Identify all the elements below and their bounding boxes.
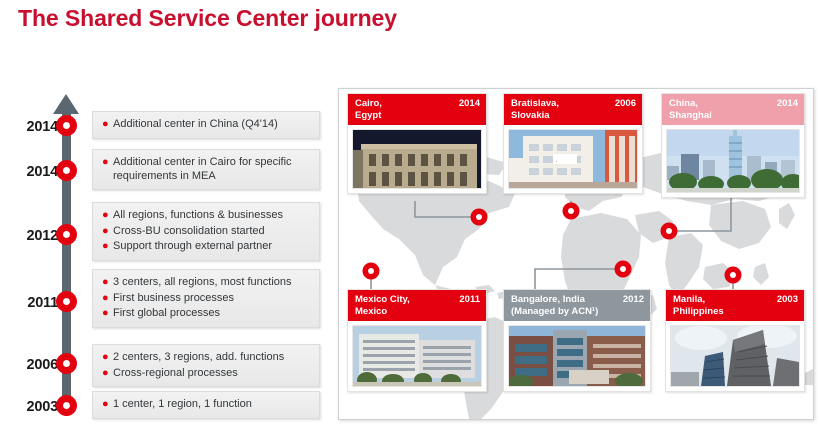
card-country: Mexico xyxy=(355,306,387,317)
card-year: 2012 xyxy=(623,294,644,306)
bullet-text: Support through external partner xyxy=(113,240,311,254)
timeline-box: ● All regions, functions & businesses ● … xyxy=(92,202,320,261)
list-item: ● Support through external partner xyxy=(102,240,311,254)
bullet-icon: ● xyxy=(102,276,113,290)
bullet-text: First business processes xyxy=(113,292,311,306)
bullet-text: Additional center in China (Q4'14) xyxy=(113,118,311,132)
map-panel: Cairo, Egypt 2014 xyxy=(338,88,814,420)
list-item: ● 1 center, 1 region, 1 function xyxy=(102,398,311,412)
card-photo xyxy=(666,129,800,193)
page-title: The Shared Service Center journey xyxy=(18,5,397,32)
card-country: Philippines xyxy=(673,306,724,317)
timeline-year: 2003 xyxy=(6,399,58,415)
card-header: Manila, Philippines 2003 xyxy=(666,290,804,321)
timeline-marker-icon xyxy=(56,291,77,312)
card-photo xyxy=(352,325,482,387)
card-country: Shanghai xyxy=(669,110,712,121)
bullet-icon: ● xyxy=(102,209,113,223)
timeline: 2014 ● Additional center in China (Q4'14… xyxy=(0,88,336,418)
list-item: ● Additional center in Cairo for specifi… xyxy=(102,156,311,183)
bullet-text: All regions, functions & businesses xyxy=(113,209,311,223)
timeline-box: ● Additional center in China (Q4'14) xyxy=(92,111,320,139)
city-card-bratislava[interactable]: Bratislava, Slovakia 2006 xyxy=(503,93,643,194)
card-header: Bratislava, Slovakia 2006 xyxy=(504,94,642,125)
bullet-icon: ● xyxy=(102,225,113,239)
bullet-text: First global processes xyxy=(113,307,311,321)
card-header: Bangalore, India (Managed by ACN¹) 2012 xyxy=(504,290,650,321)
timeline-box: ● 3 centers, all regions, most functions… xyxy=(92,269,320,328)
bullet-icon: ● xyxy=(102,398,113,412)
list-item: ● All regions, functions & businesses xyxy=(102,209,311,223)
timeline-marker-icon xyxy=(56,160,77,181)
card-city: Manila, xyxy=(673,294,705,305)
card-country: Egypt xyxy=(355,110,381,121)
timeline-year: 2012 xyxy=(6,228,58,244)
bullet-icon: ● xyxy=(102,367,113,381)
card-photo xyxy=(352,129,482,189)
timeline-marker-icon xyxy=(56,115,77,136)
city-card-bangalore[interactable]: Bangalore, India (Managed by ACN¹) 2012 xyxy=(503,289,651,392)
card-year: 2014 xyxy=(777,98,798,110)
city-card-cairo[interactable]: Cairo, Egypt 2014 xyxy=(347,93,487,194)
bullet-icon: ● xyxy=(102,292,113,306)
card-country: (Managed by ACN¹) xyxy=(511,306,598,317)
bullet-icon: ● xyxy=(102,351,113,365)
bullet-text: 1 center, 1 region, 1 function xyxy=(113,398,311,412)
bullet-text: Cross-regional processes xyxy=(113,367,311,381)
card-header: China, Shanghai 2014 xyxy=(662,94,804,125)
card-photo: . xyxy=(508,129,638,189)
bullet-text: 2 centers, 3 regions, add. functions xyxy=(113,351,311,365)
list-item: ● First business processes xyxy=(102,292,311,306)
timeline-box: ● 2 centers, 3 regions, add. functions ●… xyxy=(92,344,320,387)
timeline-marker-icon xyxy=(56,353,77,374)
city-card-manila[interactable]: Manila, Philippines 2003 xyxy=(665,289,805,392)
card-country: Slovakia xyxy=(511,110,550,121)
timeline-year: 2011 xyxy=(6,295,58,311)
card-city: Mexico City, xyxy=(355,294,410,305)
card-photo xyxy=(508,325,646,387)
timeline-arrow-icon xyxy=(53,94,79,114)
card-city: Cairo, xyxy=(355,98,382,109)
list-item: ● Cross-BU consolidation started xyxy=(102,225,311,239)
list-item: ● Cross-regional processes xyxy=(102,367,311,381)
bullet-text: 3 centers, all regions, most functions xyxy=(113,276,311,290)
card-year: 2014 xyxy=(459,98,480,110)
card-header: Cairo, Egypt 2014 xyxy=(348,94,486,125)
timeline-box: ● Additional center in Cairo for specifi… xyxy=(92,149,320,190)
card-year: 2006 xyxy=(615,98,636,110)
timeline-box: ● 1 center, 1 region, 1 function xyxy=(92,391,320,419)
card-year: 2003 xyxy=(777,294,798,306)
card-photo xyxy=(670,325,800,387)
bullet-icon: ● xyxy=(102,156,113,170)
timeline-year: 2014 xyxy=(6,164,58,180)
timeline-year: 2014 xyxy=(6,119,58,135)
bullet-icon: ● xyxy=(102,240,113,254)
list-item: ● Additional center in China (Q4'14) xyxy=(102,118,311,132)
bullet-text: Cross-BU consolidation started xyxy=(113,225,311,239)
city-card-mexico[interactable]: Mexico City, Mexico 2011 xyxy=(347,289,487,392)
timeline-marker-icon xyxy=(56,224,77,245)
card-city: China, xyxy=(669,98,698,109)
slide: The Shared Service Center journey 2014 ●… xyxy=(0,0,820,426)
bullet-text: Additional center in Cairo for specific … xyxy=(113,156,311,183)
card-city: Bratislava, xyxy=(511,98,559,109)
list-item: ● 3 centers, all regions, most functions xyxy=(102,276,311,290)
timeline-marker-icon xyxy=(56,395,77,416)
card-header: Mexico City, Mexico 2011 xyxy=(348,290,486,321)
bullet-icon: ● xyxy=(102,307,113,321)
card-city: Bangalore, India xyxy=(511,294,585,305)
list-item: ● First global processes xyxy=(102,307,311,321)
list-item: ● 2 centers, 3 regions, add. functions xyxy=(102,351,311,365)
bullet-icon: ● xyxy=(102,118,113,132)
timeline-year: 2006 xyxy=(6,357,58,373)
card-year: 2011 xyxy=(459,294,480,306)
city-card-china[interactable]: China, Shanghai 2014 xyxy=(661,93,805,198)
